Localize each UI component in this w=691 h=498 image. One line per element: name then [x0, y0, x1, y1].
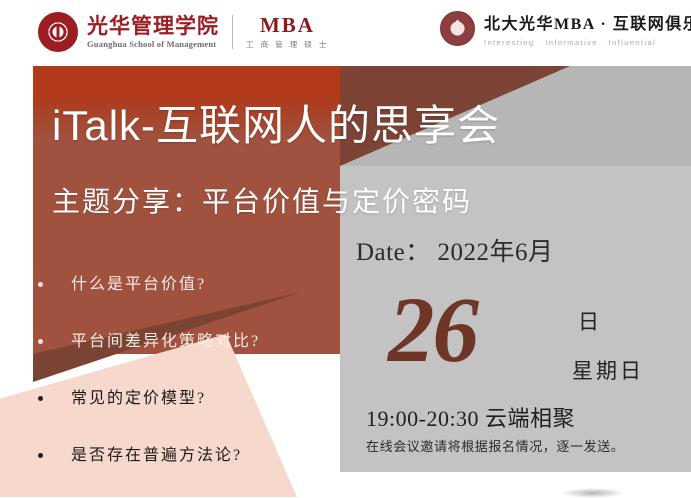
bullet-dot-icon: [38, 282, 43, 287]
poster-canvas: 光华管理学院 Guanghua School of Management MBA…: [0, 0, 691, 497]
club-logo: 北大光华MBA · 互联网俱乐部 Interesting · Informati…: [440, 10, 691, 47]
vertical-divider-icon: [232, 15, 233, 49]
mba-logo: MBA 工 商 管 理 硕 士: [246, 15, 329, 50]
mba-title: MBA: [246, 15, 329, 36]
pku-seal-icon: [38, 12, 78, 52]
mba-subtitle: 工 商 管 理 硕 士: [246, 39, 329, 50]
list-item-label: 平台间差异化策略对比?: [71, 327, 260, 351]
poster-subtitle: 主题分享：平台价值与定价密码: [52, 180, 652, 220]
guanghua-logo: 光华管理学院 Guanghua School of Management MBA…: [38, 12, 329, 52]
list-item: 常见的定价模型?: [38, 384, 338, 441]
bullet-dot-icon: [38, 339, 43, 344]
club-seal-icon: [440, 11, 475, 46]
page-header: 光华管理学院 Guanghua School of Management MBA…: [0, 0, 691, 60]
event-note: 在线会议邀请将根据报名情况，逐一发送。: [366, 436, 624, 455]
poster-title-latin: iTalk: [52, 102, 141, 149]
event-date-label: Date：: [356, 239, 431, 266]
club-name-en: Interesting · Informative · Influential: [484, 38, 691, 47]
event-weekday: 星期日: [572, 355, 644, 385]
list-item-label: 常见的定价模型?: [71, 384, 206, 408]
event-date-value: 2022年6月: [437, 239, 553, 266]
guanghua-names: 光华管理学院 Guanghua School of Management: [87, 15, 219, 49]
bullet-dot-icon: [38, 396, 43, 401]
school-name-en: Guanghua School of Management: [87, 39, 219, 49]
school-name-cn: 光华管理学院: [87, 15, 219, 37]
club-name-cn: 北大光华MBA · 互联网俱乐部: [484, 10, 691, 34]
bullet-dot-icon: [38, 453, 43, 458]
poster-title-cn: -互联网人的思享会: [141, 102, 500, 149]
event-day-unit: 日: [578, 306, 600, 336]
list-item-label: 是否存在普遍方法论?: [71, 441, 242, 465]
list-item-label: 什么是平台价值?: [71, 270, 206, 294]
list-item: 什么是平台价值?: [38, 270, 338, 327]
list-item: 是否存在普遍方法论?: [38, 441, 338, 498]
event-date: Date： 2022年6月: [356, 232, 553, 268]
poster-title: iTalk-互联网人的思享会: [52, 92, 652, 153]
event-day-number: 26: [388, 285, 477, 376]
topic-list: 什么是平台价值? 平台间差异化策略对比? 常见的定价模型? 是否存在普遍方法论?: [38, 270, 338, 498]
list-item: 平台间差异化策略对比?: [38, 327, 338, 384]
club-names: 北大光华MBA · 互联网俱乐部 Interesting · Informati…: [484, 10, 691, 47]
event-time: 19:00-20:30 云端相聚: [366, 401, 575, 433]
